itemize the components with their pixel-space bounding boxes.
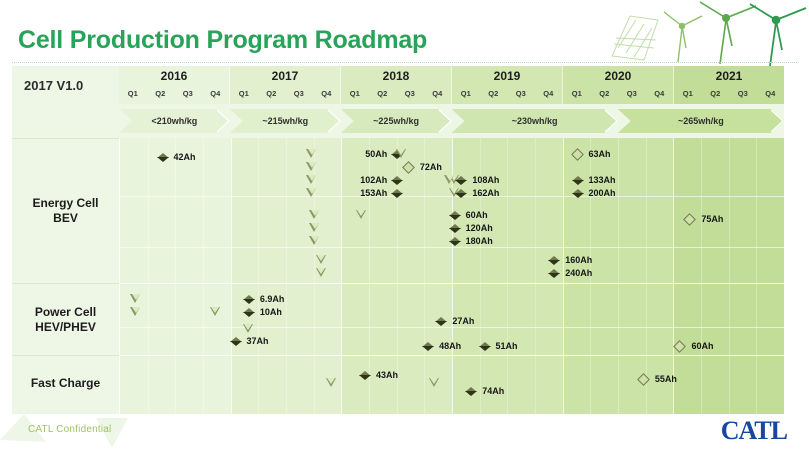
capacity-marker-60Ah: 60Ah [449, 210, 492, 220]
filled-diamond-marker-icon [359, 371, 372, 380]
milestone-marker [130, 294, 141, 304]
capacity-label: 162Ah [472, 188, 499, 198]
density-arrow-2: ~225wh/kg [341, 109, 452, 133]
roadmap-chart: 2017 V1.0 2016Q1Q2Q3Q42017Q1Q2Q3Q42018Q1… [12, 66, 784, 414]
filled-diamond-marker-icon [435, 317, 448, 326]
catl-logo: CATL [721, 416, 787, 446]
milestone-marker [316, 255, 327, 265]
capacity-label: 200Ah [589, 188, 616, 198]
capacity-label: 6.9Ah [260, 294, 285, 304]
capacity-label: 133Ah [589, 175, 616, 185]
year-column-2019: 2019Q1Q2Q3Q4 [452, 66, 563, 104]
capacity-marker-63Ah: 63Ah [572, 149, 615, 159]
quarter-cell-2021-Q1: Q1 [674, 86, 702, 104]
page-title: Cell Production Program Roadmap [18, 26, 427, 55]
capacity-label: 48Ah [439, 341, 461, 351]
band-spacer [12, 104, 119, 138]
triangle-marker-icon [316, 255, 327, 265]
filled-diamond-marker-icon [449, 224, 462, 233]
quarter-cell-2019-Q2: Q2 [480, 86, 508, 104]
filled-diamond-marker-icon [230, 337, 243, 346]
capacity-label: 102Ah [360, 175, 387, 185]
year-label: 2019 [452, 66, 562, 86]
quarter-cell-2017-Q4: Q4 [313, 86, 341, 104]
capacity-marker-200Ah: 200Ah [572, 188, 620, 198]
filled-diamond-marker-icon [391, 176, 404, 185]
capacity-marker-6-9Ah: 6.9Ah [243, 294, 289, 304]
quarter-row: Q1Q2Q3Q4 [119, 86, 229, 104]
capacity-marker-160Ah: 160Ah [548, 255, 596, 265]
diamond-marker-icon [684, 214, 697, 224]
capacity-marker-240Ah: 240Ah [548, 268, 596, 278]
density-arrow-label: ~215wh/kg [262, 116, 308, 126]
capacity-label: 108Ah [472, 175, 499, 185]
triangle-marker-icon [309, 236, 320, 246]
capacity-label: 60Ah [466, 210, 488, 220]
quarter-cell-2018-Q3: Q3 [396, 86, 424, 104]
triangle-marker-icon [309, 210, 320, 220]
year-label: 2021 [674, 66, 784, 86]
title-divider [12, 62, 797, 63]
diamond-marker-icon [638, 374, 651, 384]
quarter-cell-2020-Q3: Q3 [618, 86, 646, 104]
capacity-marker-10Ah: 10Ah [243, 307, 286, 317]
milestone-marker [210, 307, 221, 317]
year-column-2018: 2018Q1Q2Q3Q4 [341, 66, 452, 104]
capacity-marker-120Ah: 120Ah [449, 223, 497, 233]
triangle-marker-icon [130, 294, 141, 304]
capacity-marker-37Ah: 37Ah [230, 336, 273, 346]
milestone-marker [309, 236, 320, 246]
density-arrow-1: ~215wh/kg [230, 109, 341, 133]
capacity-marker-133Ah: 133Ah [572, 175, 620, 185]
triangle-marker-icon [309, 223, 320, 233]
year-column-2021: 2021Q1Q2Q3Q4 [674, 66, 784, 104]
quarter-row: Q1Q2Q3Q4 [563, 86, 673, 104]
row-label-line: HEV/PHEV [35, 320, 96, 335]
capacity-marker-27Ah: 27Ah [435, 316, 478, 326]
quarter-cell-2017-Q1: Q1 [230, 86, 258, 104]
filled-diamond-marker-icon [465, 387, 478, 396]
year-columns: 2016Q1Q2Q3Q42017Q1Q2Q3Q42018Q1Q2Q3Q42019… [119, 66, 784, 104]
year-column-2017: 2017Q1Q2Q3Q4 [230, 66, 341, 104]
milestone-marker [309, 210, 320, 220]
filled-diamond-marker-icon [391, 189, 404, 198]
quarter-cell-2018-Q2: Q2 [369, 86, 397, 104]
capacity-marker-108Ah: 108Ah [455, 175, 503, 185]
milestone-marker [306, 149, 317, 159]
filled-diamond-marker-icon [422, 342, 435, 351]
triangle-marker-icon [429, 378, 440, 388]
row-label-line: Power Cell [35, 305, 96, 320]
capacity-label: 180Ah [466, 236, 493, 246]
quarter-cell-2021-Q4: Q4 [757, 86, 785, 104]
capacity-marker-153Ah: 153Ah [356, 188, 404, 198]
quarter-cell-2016-Q3: Q3 [174, 86, 202, 104]
capacity-marker-72Ah: 72Ah [403, 162, 446, 172]
capacity-label: 51Ah [496, 341, 518, 351]
capacity-marker-55Ah: 55Ah [638, 374, 681, 384]
capacity-label: 74Ah [482, 386, 504, 396]
diamond-marker-icon [572, 149, 585, 159]
filled-diamond-marker-icon [479, 342, 492, 351]
row-plot-2: 43Ah74Ah55Ah [120, 355, 784, 412]
year-label: 2020 [563, 66, 673, 86]
year-label: 2017 [230, 66, 340, 86]
quarter-cell-2020-Q2: Q2 [591, 86, 619, 104]
year-label: 2016 [119, 66, 229, 86]
quarter-row: Q1Q2Q3Q4 [452, 86, 562, 104]
capacity-marker-162Ah: 162Ah [455, 188, 503, 198]
capacity-label: 72Ah [420, 162, 442, 172]
quarter-cell-2017-Q2: Q2 [258, 86, 286, 104]
milestone-marker [444, 175, 455, 185]
header-decoration [600, 0, 809, 68]
triangle-marker-icon [444, 175, 455, 185]
quarter-cell-2019-Q1: Q1 [452, 86, 480, 104]
capacity-label: 60Ah [691, 341, 713, 351]
quarter-cell-2021-Q3: Q3 [729, 86, 757, 104]
milestone-marker [306, 175, 317, 185]
capacity-label: 43Ah [376, 370, 398, 380]
triangle-marker-icon [396, 149, 407, 159]
capacity-marker-60Ah: 60Ah [674, 341, 717, 351]
quarter-row: Q1Q2Q3Q4 [230, 86, 340, 104]
filled-diamond-marker-icon [455, 189, 468, 198]
quarter-cell-2019-Q3: Q3 [507, 86, 535, 104]
triangle-marker-icon [130, 307, 141, 317]
quarter-cell-2021-Q2: Q2 [702, 86, 730, 104]
milestone-marker [243, 324, 254, 334]
row-label-fast-charge: Fast Charge [12, 355, 119, 411]
year-column-2020: 2020Q1Q2Q3Q4 [563, 66, 674, 104]
band-track: <210wh/kg~215wh/kg~225wh/kg~230wh/kg~265… [119, 104, 784, 138]
row-label-column: Energy CellBEVPower CellHEV/PHEVFast Cha… [12, 138, 120, 414]
capacity-label: 75Ah [701, 214, 723, 224]
confidential-note: CATL Confidential [28, 424, 111, 435]
quarter-cell-2018-Q1: Q1 [341, 86, 369, 104]
quarter-cell-2016-Q2: Q2 [147, 86, 175, 104]
filled-diamond-marker-icon [455, 176, 468, 185]
triangle-marker-icon [243, 324, 254, 334]
triangle-marker-icon [356, 210, 367, 220]
density-arrow-label: ~225wh/kg [373, 116, 419, 126]
triangle-marker-icon [210, 307, 221, 317]
year-column-2016: 2016Q1Q2Q3Q4 [119, 66, 230, 104]
row-subdivider [120, 247, 784, 248]
capacity-marker-43Ah: 43Ah [359, 370, 402, 380]
milestone-marker [306, 162, 317, 172]
capacity-label: 10Ah [260, 307, 282, 317]
row-plot-1: 6.9Ah10Ah37Ah27Ah48Ah51Ah60Ah [120, 283, 784, 356]
milestone-marker [316, 268, 327, 278]
milestone-marker [130, 307, 141, 317]
milestone-marker [326, 378, 337, 388]
density-arrow-4: ~265wh/kg [618, 109, 784, 133]
row-label-line: Energy Cell [32, 196, 98, 211]
filled-diamond-marker-icon [449, 211, 462, 220]
capacity-label: 42Ah [174, 152, 196, 162]
density-arrow-label: <210wh/kg [152, 116, 198, 126]
triangle-marker-icon [326, 378, 337, 388]
capacity-marker-74Ah: 74Ah [465, 386, 508, 396]
row-label-power-cell-hev-phev: Power CellHEV/PHEV [12, 283, 119, 355]
energy-density-band: <210wh/kg~215wh/kg~225wh/kg~230wh/kg~265… [12, 104, 784, 138]
milestone-marker [356, 210, 367, 220]
capacity-label: 27Ah [452, 316, 474, 326]
capacity-label: 240Ah [565, 268, 592, 278]
triangle-marker-icon [306, 162, 317, 172]
capacity-label: 55Ah [655, 374, 677, 384]
filled-diamond-marker-icon [548, 256, 561, 265]
filled-diamond-marker-icon [572, 176, 585, 185]
capacity-label: 37Ah [247, 336, 269, 346]
chart-body: Energy CellBEVPower CellHEV/PHEVFast Cha… [12, 138, 784, 414]
capacity-label: 160Ah [565, 255, 592, 265]
timeline-header: 2017 V1.0 2016Q1Q2Q3Q42017Q1Q2Q3Q42018Q1… [12, 66, 784, 104]
filled-diamond-marker-icon [157, 153, 170, 162]
capacity-marker-102Ah: 102Ah [356, 175, 404, 185]
quarter-cell-2020-Q4: Q4 [646, 86, 674, 104]
capacity-label: 120Ah [466, 223, 493, 233]
row-label-line: BEV [53, 211, 78, 226]
milestone-marker [306, 188, 317, 198]
density-arrow-0: <210wh/kg [119, 109, 230, 133]
quarter-row: Q1Q2Q3Q4 [341, 86, 451, 104]
filled-diamond-marker-icon [243, 295, 256, 304]
density-arrow-label: ~265wh/kg [678, 116, 724, 126]
quarter-cell-2020-Q1: Q1 [563, 86, 591, 104]
quarter-row: Q1Q2Q3Q4 [674, 86, 784, 104]
quarter-cell-2018-Q4: Q4 [424, 86, 452, 104]
density-arrow-3: ~230wh/kg [452, 109, 618, 133]
quarter-cell-2019-Q4: Q4 [535, 86, 563, 104]
capacity-marker-42Ah: 42Ah [157, 152, 200, 162]
plot-area: 42Ah50Ah72Ah102Ah153Ah108Ah162Ah63Ah133A… [120, 138, 784, 414]
capacity-label: 50Ah [365, 149, 387, 159]
filled-diamond-marker-icon [243, 308, 256, 317]
year-label: 2018 [341, 66, 451, 86]
quarter-cell-2017-Q3: Q3 [285, 86, 313, 104]
quarter-cell-2016-Q1: Q1 [119, 86, 147, 104]
milestone-marker [396, 149, 407, 159]
density-arrow-label: ~230wh/kg [512, 116, 558, 126]
capacity-marker-75Ah: 75Ah [684, 214, 727, 224]
triangle-marker-icon [306, 149, 317, 159]
triangle-marker-icon [306, 188, 317, 198]
quarter-cell-2016-Q4: Q4 [202, 86, 230, 104]
diamond-marker-icon [674, 341, 687, 351]
capacity-label: 63Ah [589, 149, 611, 159]
milestone-marker [309, 223, 320, 233]
triangle-marker-icon [306, 175, 317, 185]
capacity-label: 153Ah [360, 188, 387, 198]
capacity-marker-180Ah: 180Ah [449, 236, 497, 246]
filled-diamond-marker-icon [572, 189, 585, 198]
triangle-marker-icon [316, 268, 327, 278]
diamond-marker-icon [403, 162, 416, 172]
filled-diamond-marker-icon [449, 237, 462, 246]
milestone-marker [429, 378, 440, 388]
row-label-line: Fast Charge [31, 376, 100, 391]
capacity-marker-48Ah: 48Ah [422, 341, 465, 351]
capacity-marker-51Ah: 51Ah [479, 341, 522, 351]
row-subdivider [120, 327, 784, 328]
row-plot-0: 42Ah50Ah72Ah102Ah153Ah108Ah162Ah63Ah133A… [120, 138, 784, 283]
version-label: 2017 V1.0 [12, 66, 119, 104]
row-label-energy-cell-bev: Energy CellBEV [12, 138, 119, 283]
filled-diamond-marker-icon [548, 269, 561, 278]
